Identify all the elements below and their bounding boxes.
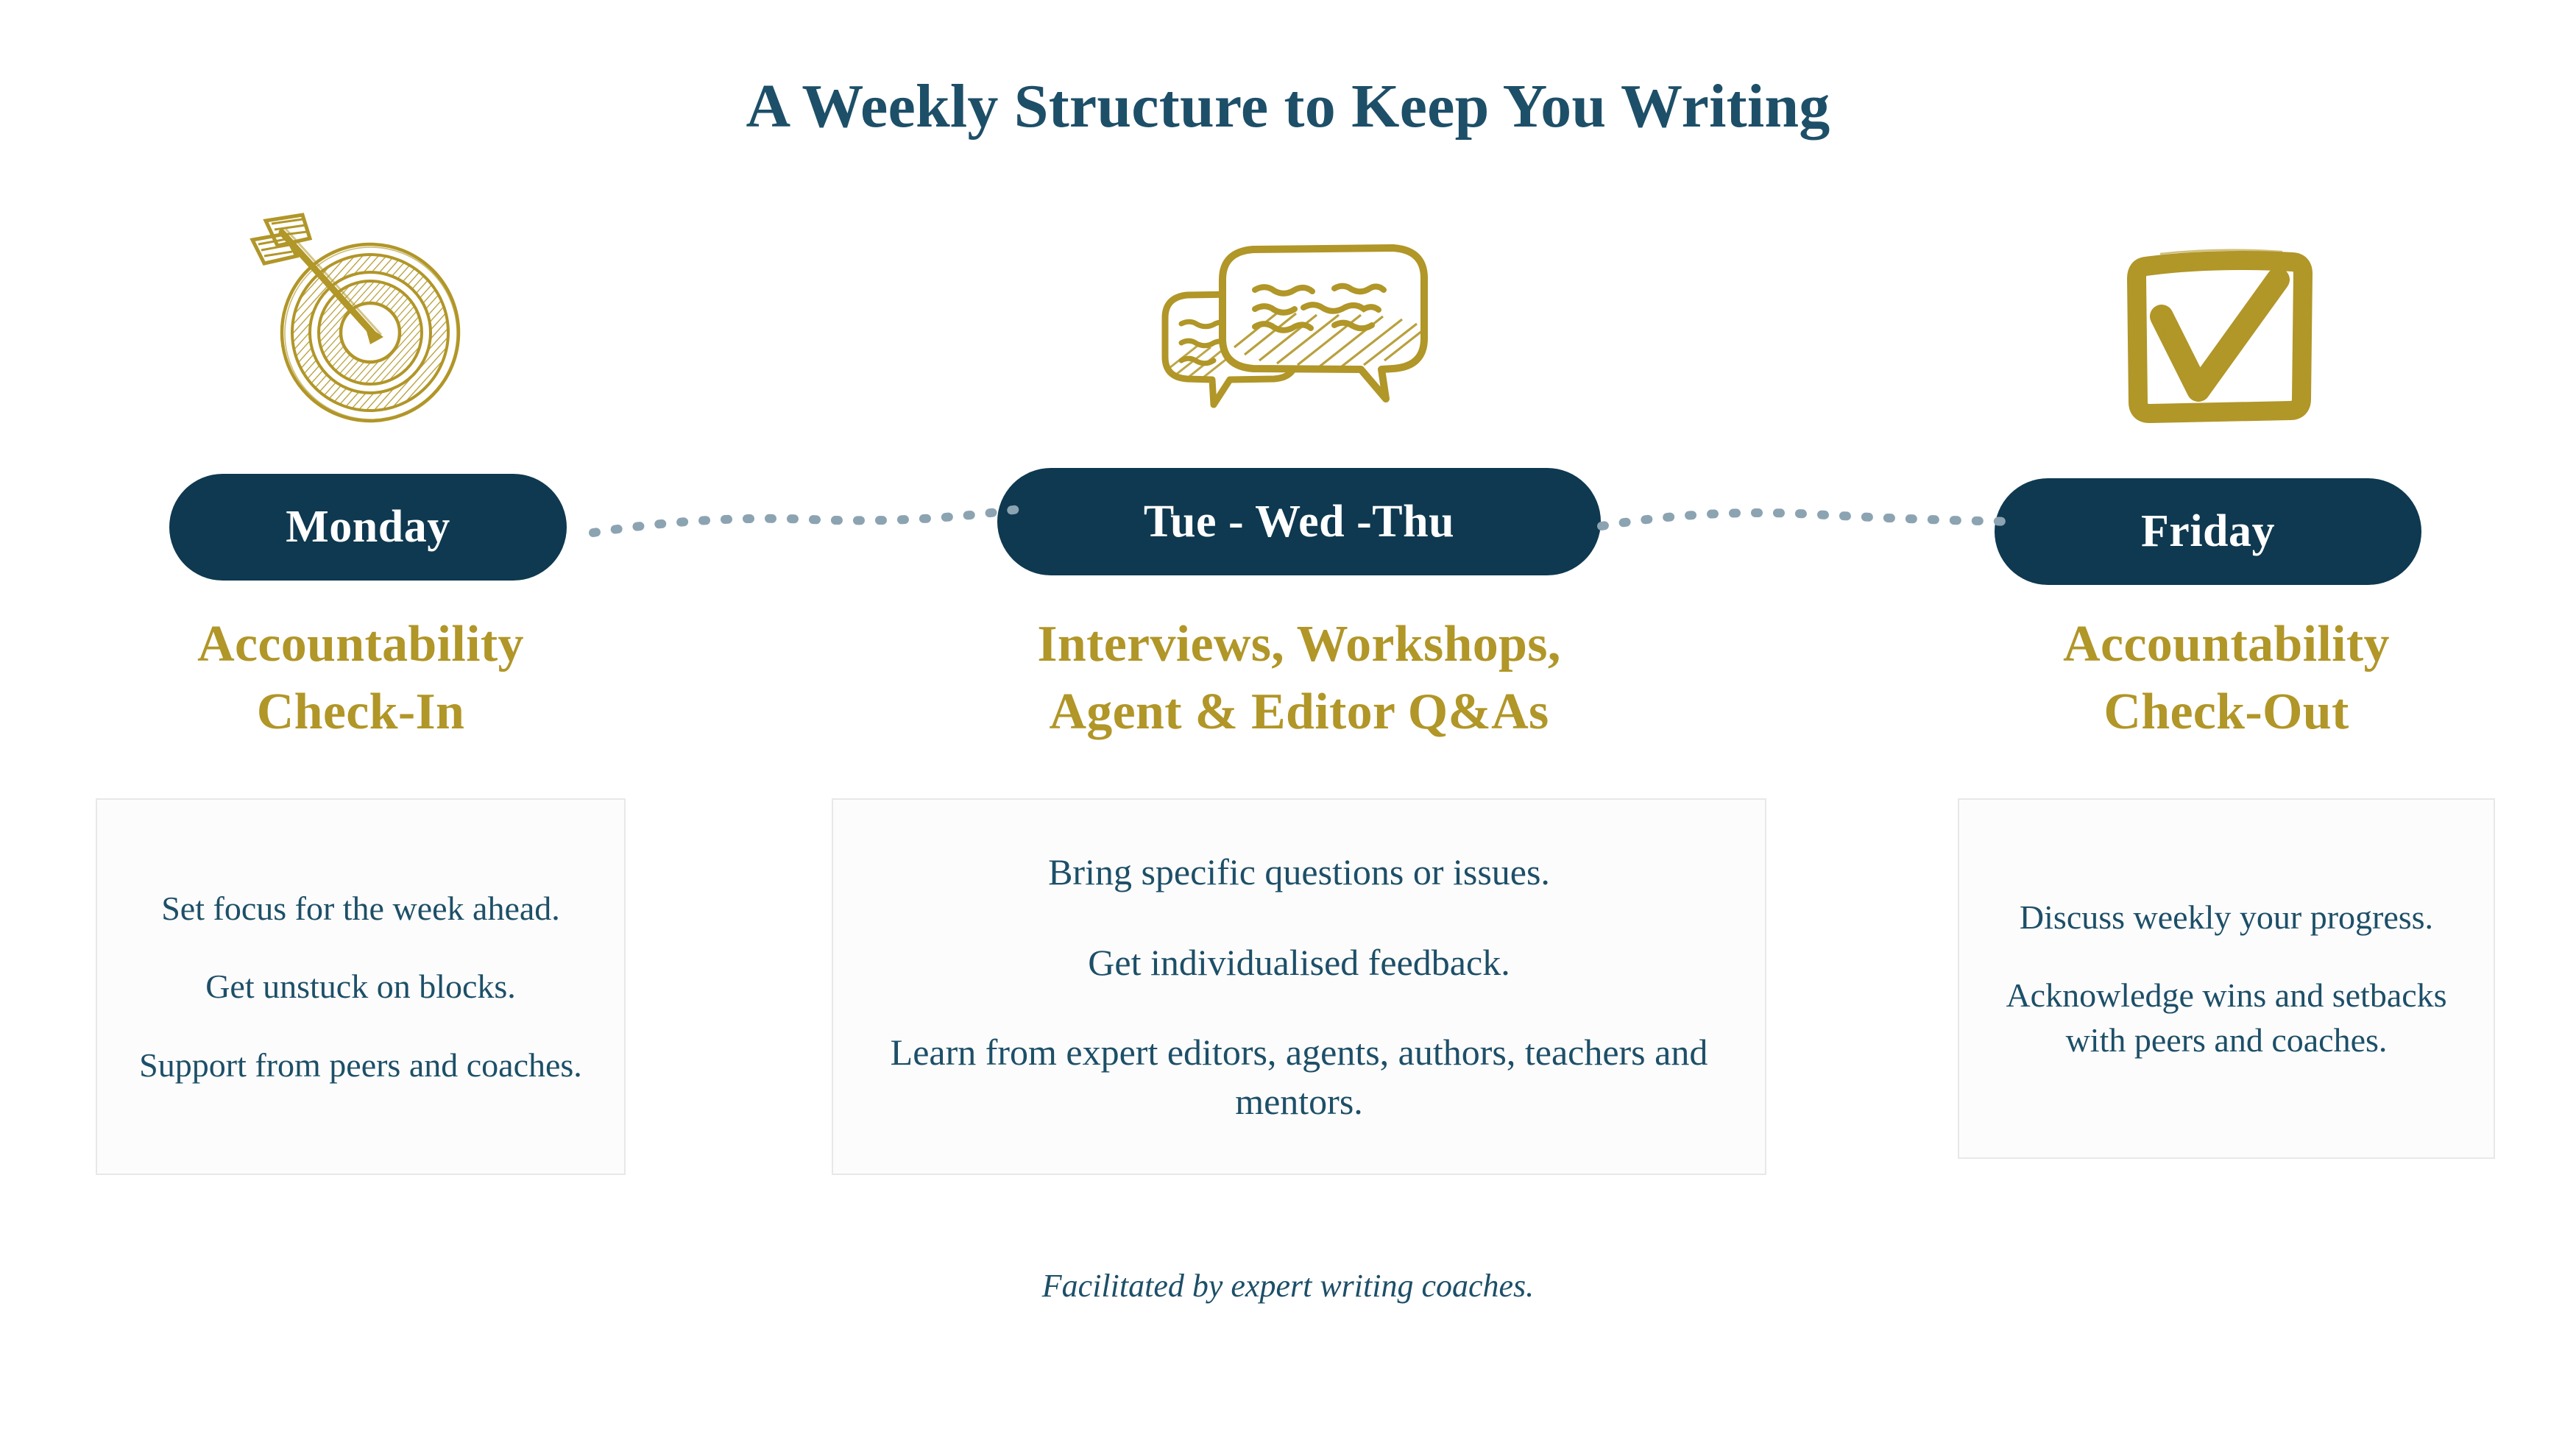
day-pill-midweek[interactable]: Tue - Wed -Thu: [997, 468, 1601, 575]
heading-line: Accountability: [197, 616, 524, 672]
day-pill-label: Friday: [2141, 505, 2275, 558]
details-card-midweek: Bring specific questions or issues. Get …: [832, 798, 1766, 1175]
speech-bubbles-icon: [832, 207, 1766, 428]
detail-item: Get unstuck on blocks.: [205, 964, 516, 1009]
day-pill-label: Monday: [286, 501, 450, 553]
heading-line: Accountability: [2063, 616, 2390, 672]
details-card-monday: Set focus for the week ahead. Get unstuc…: [96, 798, 626, 1175]
detail-item: Get individualised feedback.: [1088, 938, 1510, 987]
column-heading-friday: Accountability Check-Out: [1958, 611, 2495, 747]
detail-item: Set focus for the week ahead.: [161, 886, 560, 931]
target-arrow-icon: [96, 207, 626, 428]
detail-item: Bring specific questions or issues.: [1048, 848, 1550, 897]
connector-midweek-to-friday: [1597, 482, 2024, 570]
heading-line: Check-Out: [2103, 684, 2349, 740]
day-pill-label: Tue - Wed -Thu: [1144, 496, 1454, 548]
day-pill-friday[interactable]: Friday: [1995, 478, 2421, 585]
detail-item: Support from peers and coaches.: [139, 1043, 582, 1087]
heading-line: Check-In: [257, 684, 464, 740]
detail-item: Acknowledge wins and setbacks with peers…: [1981, 973, 2471, 1062]
weekly-structure-columns: Monday Accountability Check-In Set focus…: [0, 0, 2576, 1448]
heading-line: Agent & Editor Q&As: [1049, 684, 1549, 740]
detail-item: Learn from expert editors, agents, autho…: [855, 1028, 1743, 1126]
details-card-friday: Discuss weekly your progress. Acknowledg…: [1958, 798, 2495, 1159]
heading-line: Interviews, Workshops,: [1037, 616, 1560, 672]
detail-item: Discuss weekly your progress.: [2020, 895, 2433, 940]
footer-note: Facilitated by expert writing coaches.: [0, 1267, 2576, 1305]
column-heading-midweek: Interviews, Workshops, Agent & Editor Q&…: [832, 611, 1766, 747]
connector-monday-to-midweek: [589, 486, 1023, 574]
column-heading-monday: Accountability Check-In: [96, 611, 626, 747]
day-pill-monday[interactable]: Monday: [169, 474, 567, 581]
checkbox-check-icon: [1958, 207, 2495, 428]
